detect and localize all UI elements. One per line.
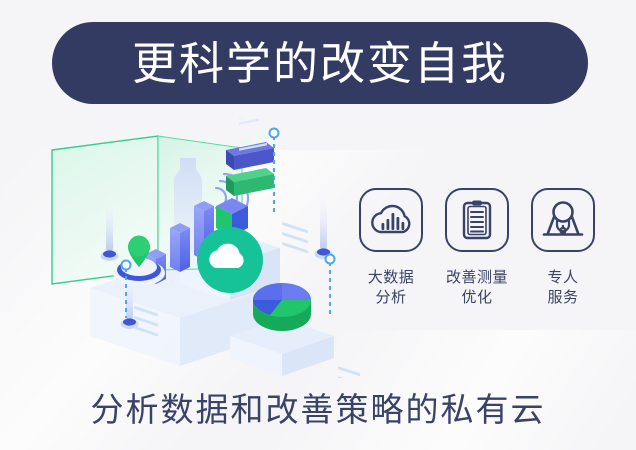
clipboard-icon bbox=[445, 188, 509, 252]
feature-label-measurement: 改善测量 优化 bbox=[446, 267, 508, 308]
feature-label-line2: 分析 bbox=[368, 287, 415, 307]
feature-label-line2: 优化 bbox=[446, 287, 508, 307]
isometric-illustration bbox=[30, 118, 360, 378]
pie-chart-3d bbox=[253, 283, 311, 331]
page-title: 更科学的改变自我 bbox=[132, 41, 508, 86]
feature-label-line1: 改善测量 bbox=[446, 267, 508, 287]
cloud-bar-chart-icon bbox=[359, 188, 423, 252]
poster-canvas: 更科学的改变自我 bbox=[0, 0, 636, 450]
feature-item-measurement[interactable]: 改善测量 优化 bbox=[438, 188, 516, 308]
cloud-badge-circle bbox=[197, 227, 263, 293]
feature-list: 大数据 分析 bbox=[352, 188, 602, 328]
thermometer-pillar-right bbox=[315, 188, 333, 259]
feature-item-service[interactable]: 专人 服务 bbox=[524, 188, 602, 308]
feature-label-big-data: 大数据 分析 bbox=[368, 267, 415, 308]
service-person-icon bbox=[531, 188, 595, 252]
feature-label-line1: 专人 bbox=[547, 267, 578, 287]
feature-label-service: 专人 服务 bbox=[547, 267, 578, 308]
title-banner: 更科学的改变自我 bbox=[52, 22, 588, 104]
feature-label-line2: 服务 bbox=[547, 287, 578, 307]
feature-item-big-data[interactable]: 大数据 分析 bbox=[352, 188, 430, 308]
feature-label-line1: 大数据 bbox=[368, 267, 415, 287]
page-tagline: 分析数据和改善策略的私有云 bbox=[0, 383, 636, 431]
